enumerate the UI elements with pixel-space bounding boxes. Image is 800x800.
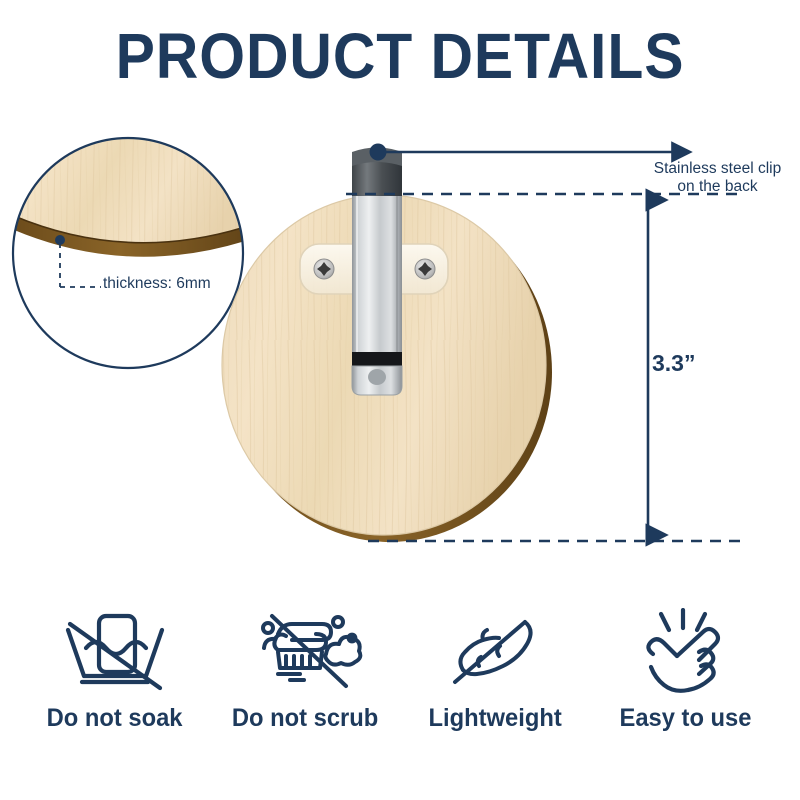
clip-annotation-line1: Stainless steel clip xyxy=(640,160,795,178)
clip-annotation-line2: on the back xyxy=(640,178,795,196)
product-details-infographic: PRODUCT DETAILS xyxy=(0,0,800,800)
feature-do-not-scrub: Do not scrub xyxy=(212,608,398,768)
clip-strip xyxy=(352,183,402,363)
feature-label-easy-to-use: Easy to use xyxy=(619,704,751,733)
clip-marker-dot xyxy=(370,144,387,161)
feature-do-not-soak: Do not soak xyxy=(22,608,208,768)
feather-icon xyxy=(439,608,551,694)
no-scrub-icon xyxy=(242,608,368,694)
feature-easy-to-use: Easy to use xyxy=(592,608,778,768)
thickness-annotation: thickness: 6mm xyxy=(103,275,211,293)
screw-right xyxy=(415,259,435,279)
height-annotation: 3.3” xyxy=(652,350,695,377)
feature-label-do-not-scrub: Do not scrub xyxy=(232,704,378,733)
clip-callout xyxy=(370,144,689,161)
clip-foot-tab xyxy=(368,369,386,385)
feature-lightweight: Lightweight xyxy=(402,608,588,768)
clip-annotation: Stainless steel clip on the back xyxy=(640,160,795,197)
no-soak-icon xyxy=(56,608,174,694)
feature-label-lightweight: Lightweight xyxy=(428,704,561,733)
tap-hand-icon xyxy=(629,608,741,694)
screw-left xyxy=(314,259,334,279)
feature-label-do-not-soak: Do not soak xyxy=(47,704,183,733)
feature-row: Do not soak xyxy=(0,608,800,768)
